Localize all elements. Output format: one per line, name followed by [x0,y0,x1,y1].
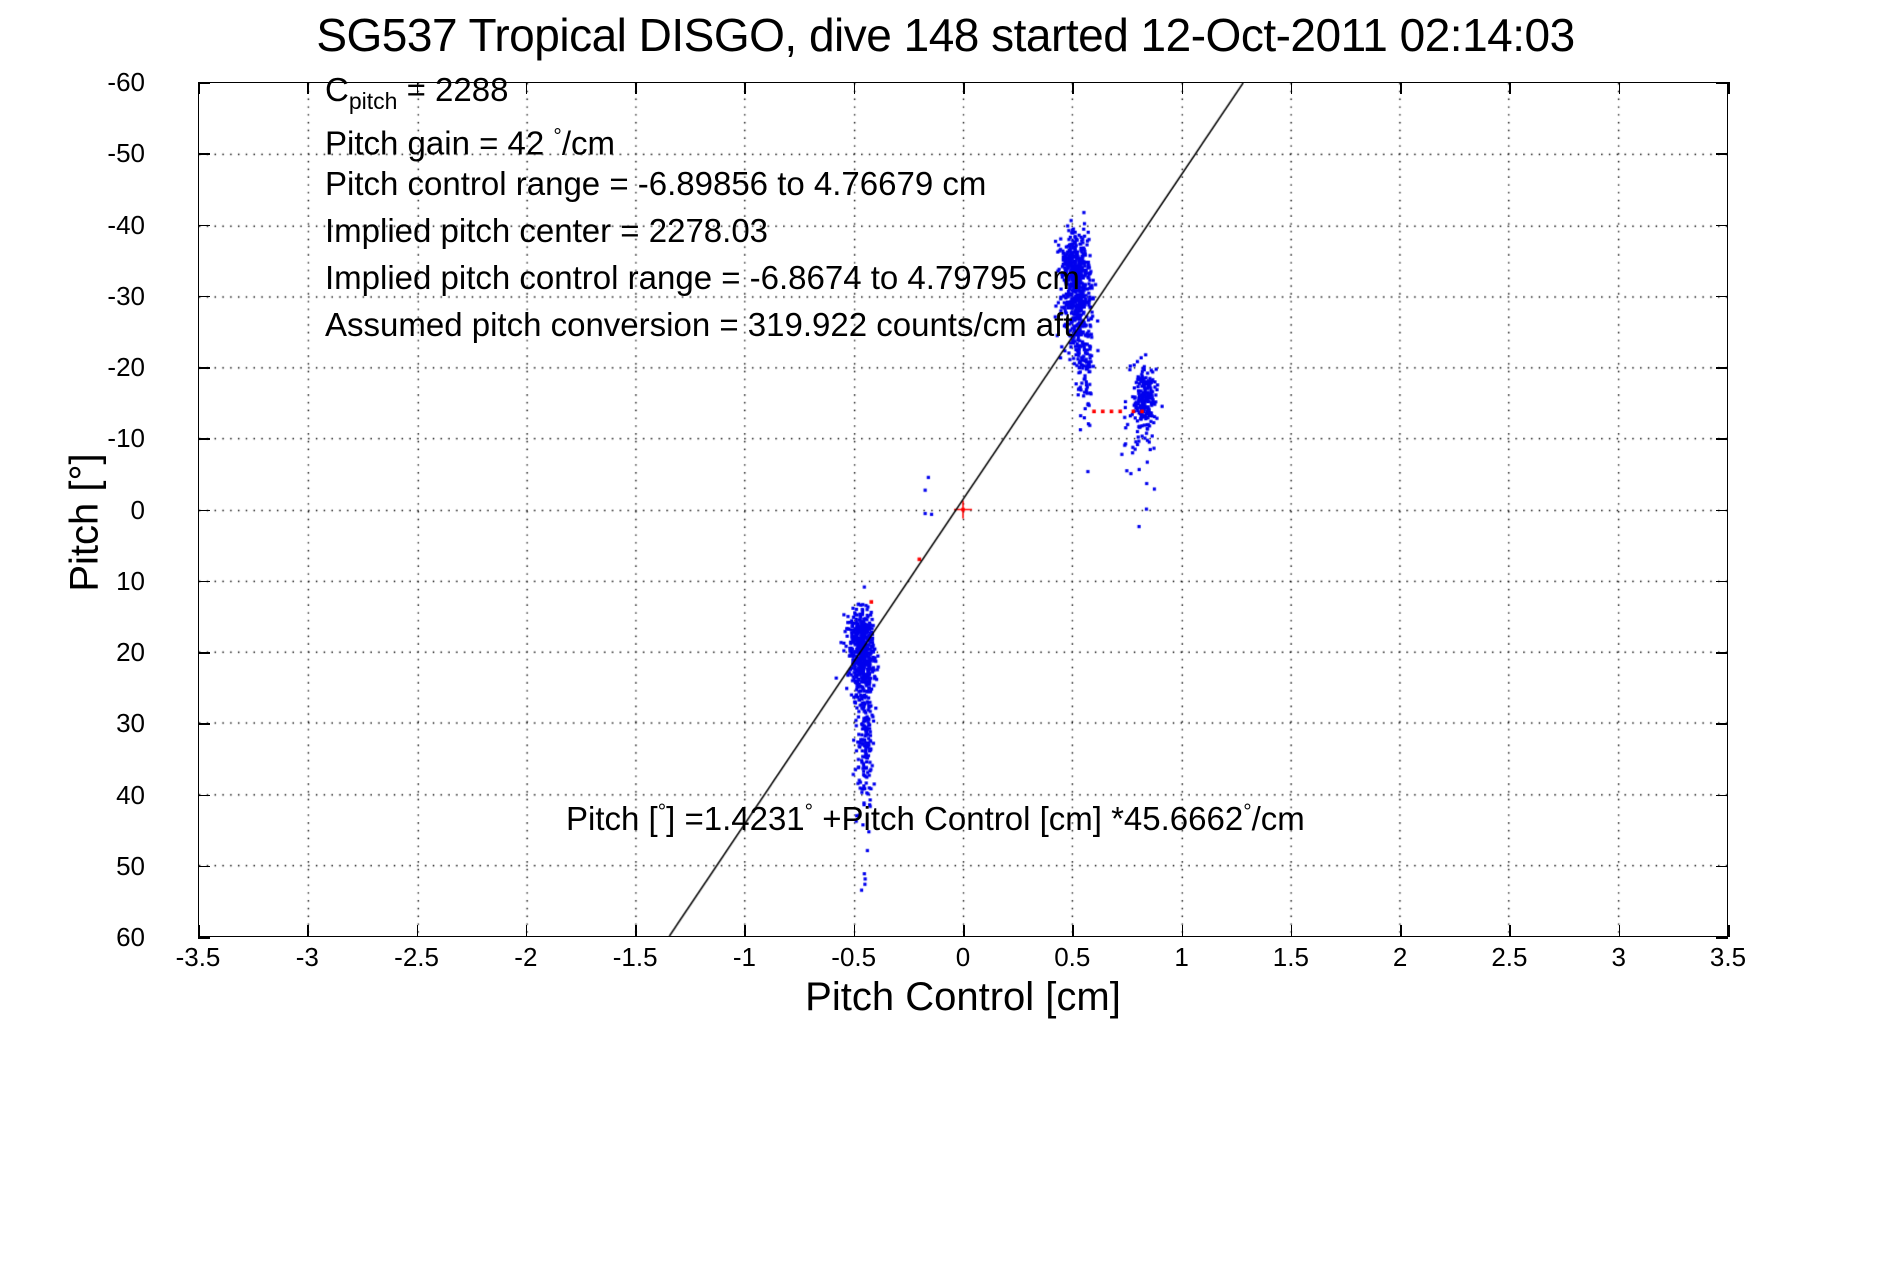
y-tick-mark [1716,652,1728,654]
y-tick-mark [1716,937,1728,939]
y-tick-text: 0 [131,497,155,523]
x-tick-mark [198,925,200,937]
x-tick-mark [1400,925,1402,937]
x-tick-label: 1 [1122,944,1242,970]
y-tick-mark [198,438,210,440]
y-tick-mark [198,795,210,797]
y-tick-mark [198,866,210,868]
degree-symbol-eq-3: ° [1243,800,1251,823]
x-tick-mark [963,925,965,937]
c-pitch-symbol: C [325,71,349,108]
y-tick-mark [198,296,210,298]
annotation-block: Cpitch = 2288 Pitch gain = 42 °/cm Pitch… [325,66,1080,348]
y-tick-label: -50 [35,140,155,166]
x-tick-label: 2.5 [1449,944,1569,970]
y-tick-mark [1716,866,1728,868]
x-tick-label: -3.5 [138,944,258,970]
y-tick-text: -40 [107,212,155,238]
y-tick-mark [198,367,210,369]
y-axis-title: Pitch [°] [63,183,108,863]
y-tick-mark [1716,82,1728,84]
y-tick-mark [1716,367,1728,369]
y-axis-title-text: Pitch [ [63,480,107,591]
pitch-gain-text: Pitch gain = 42 [325,125,553,162]
x-tick-label: -1 [684,944,804,970]
x-tick-mark [198,82,200,94]
y-tick-text: 30 [116,710,155,736]
y-tick-mark [198,652,210,654]
y-tick-mark [198,581,210,583]
x-tick-mark [526,925,528,937]
y-tick-text: 50 [116,853,155,879]
degree-symbol-gain: ° [553,125,561,148]
y-tick-label: 60 [35,924,155,950]
x-tick-label: 0 [903,944,1023,970]
y-tick-text: -30 [107,283,155,309]
x-tick-mark [1072,925,1074,937]
equation-part-1: Pitch [ [566,800,658,837]
y-tick-mark [198,225,210,227]
y-tick-mark [1716,581,1728,583]
y-tick-mark [1716,723,1728,725]
y-tick-mark [198,937,210,939]
annotation-line-implied-pitch-control-range: Implied pitch control range = -6.8674 to… [325,254,1080,301]
x-axis-title: Pitch Control [cm] [198,975,1728,1020]
y-tick-text: -20 [107,354,155,380]
x-tick-label: -3 [247,944,367,970]
y-tick-text: -60 [107,69,155,95]
x-tick-label: 1.5 [1231,944,1351,970]
x-tick-label: 3.5 [1668,944,1788,970]
x-tick-label: -0.5 [794,944,914,970]
x-tick-mark [1400,82,1402,94]
x-tick-label: -1.5 [575,944,695,970]
equation-part-3: +Pitch Control [cm] *45.6662 [813,800,1243,837]
y-tick-mark [1716,153,1728,155]
x-tick-mark [854,925,856,937]
x-tick-label: 2 [1340,944,1460,970]
y-tick-mark [1716,225,1728,227]
y-tick-text: -50 [107,140,155,166]
annotation-line-c-pitch: Cpitch = 2288 [325,66,1080,113]
equation-part-4: /cm [1252,800,1305,837]
x-tick-label: -2 [466,944,586,970]
x-tick-label: -2.5 [357,944,477,970]
x-tick-mark [744,925,746,937]
degree-symbol-eq-1: ° [658,800,666,823]
figure-canvas: SG537 Tropical DISGO, dive 148 started 1… [0,0,1891,1262]
annotation-line-pitch-gain: Pitch gain = 42 °/cm [325,113,1080,160]
y-tick-mark [1716,510,1728,512]
degree-symbol-y: ° [63,464,107,480]
y-tick-mark [1716,438,1728,440]
y-tick-text: 20 [116,639,155,665]
y-tick-mark [198,723,210,725]
annotation-line-assumed-pitch-conversion: Assumed pitch conversion = 319.922 count… [325,301,1080,348]
x-tick-label: 3 [1559,944,1679,970]
y-tick-mark [198,510,210,512]
x-tick-mark [1182,82,1184,94]
x-tick-mark [1728,925,1730,937]
y-tick-mark [1716,296,1728,298]
y-tick-mark [1716,795,1728,797]
x-tick-mark [1619,82,1621,94]
annotation-line-implied-pitch-center: Implied pitch center = 2278.03 [325,207,1080,254]
x-tick-mark [1728,82,1730,94]
pitch-gain-units: /cm [562,125,615,162]
x-tick-mark [417,925,419,937]
x-tick-label: 0.5 [1012,944,1132,970]
y-tick-text: -10 [107,425,155,451]
c-pitch-subscript: pitch [349,88,398,114]
x-tick-mark [1291,925,1293,937]
y-axis-title-bracket: ] [63,453,107,464]
y-tick-text: 10 [116,568,155,594]
y-tick-mark [198,153,210,155]
page-title: SG537 Tropical DISGO, dive 148 started 1… [0,8,1891,62]
x-tick-mark [635,925,637,937]
x-tick-mark [1619,925,1621,937]
y-tick-mark [198,82,210,84]
degree-symbol-eq-2: ° [805,800,813,823]
y-tick-text: 40 [116,782,155,808]
x-tick-mark [1291,82,1293,94]
annotation-line-pitch-control-range: Pitch control range = -6.89856 to 4.7667… [325,160,1080,207]
c-pitch-value: = 2288 [397,71,508,108]
x-tick-mark [307,82,309,94]
x-tick-mark [1509,82,1511,94]
fit-equation-label: Pitch [°] =1.4231° +Pitch Control [cm] *… [566,800,1305,838]
x-tick-mark [307,925,309,937]
equation-part-2: ] =1.4231 [666,800,805,837]
x-tick-mark [1509,925,1511,937]
y-tick-label: -60 [35,69,155,95]
x-tick-mark [1182,925,1184,937]
